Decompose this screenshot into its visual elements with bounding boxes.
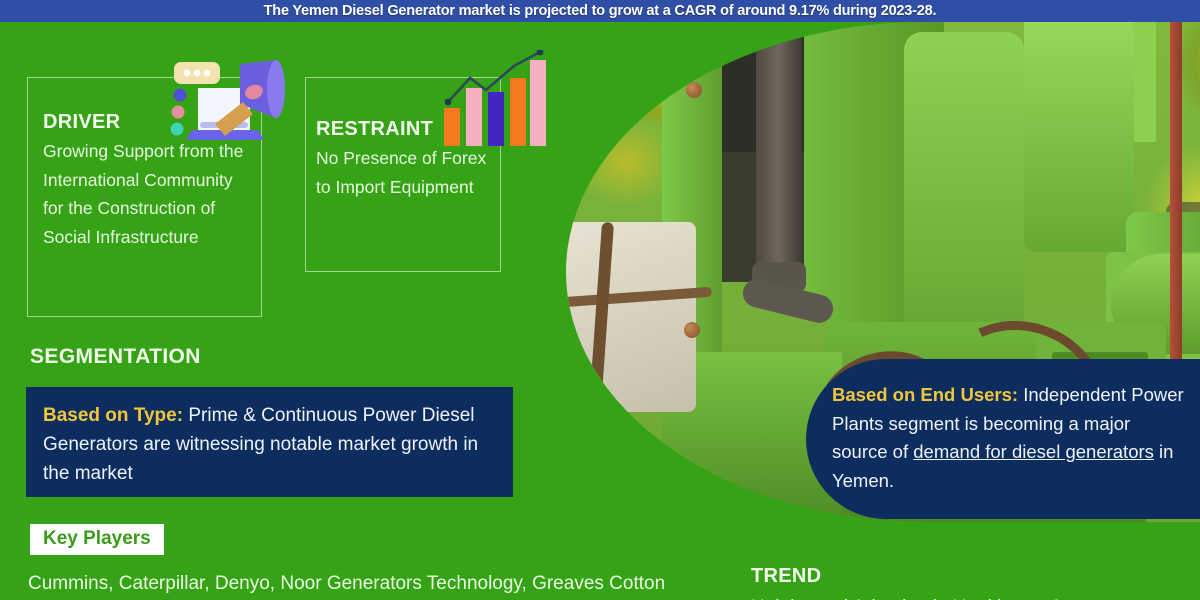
demand-link[interactable]: demand for diesel generators: [913, 441, 1154, 462]
trend-body: Heightened Adoption in Healthcare &: [751, 594, 1181, 600]
key-players-list: Cummins, Caterpillar, Denyo, Noor Genera…: [28, 570, 668, 600]
key-players-label: Key Players: [43, 528, 151, 549]
key-players-badge: Key Players: [30, 524, 164, 555]
segmentation-by-type-card: Based on Type: Prime & Continuous Power …: [26, 387, 513, 497]
driver-body: Growing Support from the International C…: [43, 137, 249, 251]
segmentation-by-end-users-text: Based on End Users: Independent Power Pl…: [832, 381, 1186, 496]
headline-text: The Yemen Diesel Generator market is pro…: [264, 3, 937, 19]
by-type-key: Based on Type:: [43, 405, 183, 426]
segmentation-title: SEGMENTATION: [30, 345, 201, 369]
by-end-users-key: Based on End Users:: [832, 384, 1018, 405]
segmentation-by-type-text: Based on Type: Prime & Continuous Power …: [43, 401, 495, 488]
trend-title: TREND: [751, 565, 821, 588]
megaphone-laptop-icon: [168, 54, 290, 154]
infographic-body: DRIVER Growing Support from the Internat…: [0, 22, 1200, 600]
headline-banner: The Yemen Diesel Generator market is pro…: [0, 0, 1200, 22]
bar-chart-growth-icon: [440, 50, 550, 150]
restraint-body: No Presence of Forex to Import Equipment: [316, 144, 492, 201]
segmentation-by-end-users-card: Based on End Users: Independent Power Pl…: [806, 359, 1200, 519]
